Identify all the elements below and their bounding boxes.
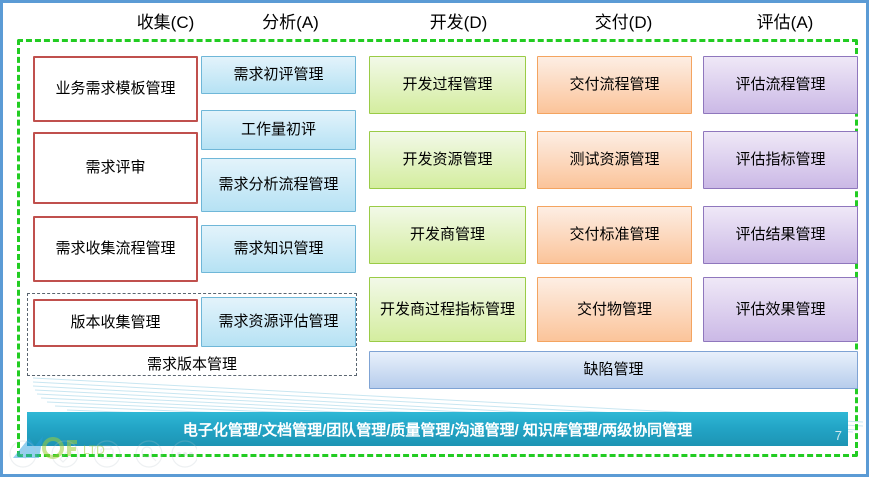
card-label: 评估结果管理 <box>735 226 825 244</box>
card-label: 需求资源评估管理 <box>218 313 338 331</box>
card-label: 评估效果管理 <box>735 301 825 319</box>
card-develop-1[interactable]: 开发过程管理 <box>369 56 526 114</box>
card-label: 版本收集管理 <box>70 314 160 332</box>
card-evaluate-3[interactable]: 评估结果管理 <box>703 206 858 264</box>
card-analyze-5[interactable]: 需求资源评估管理 <box>201 297 356 347</box>
card-label: 需求评审 <box>85 159 145 177</box>
card-label: 需求分析流程管理 <box>218 176 338 194</box>
card-deliver-1[interactable]: 交付流程管理 <box>537 56 692 114</box>
card-evaluate-4[interactable]: 评估效果管理 <box>703 277 858 342</box>
card-develop-3[interactable]: 开发商管理 <box>369 206 526 264</box>
card-develop-4[interactable]: 开发商过程指标管理 <box>369 277 526 342</box>
column-header-develop: 开发(D) <box>371 9 546 37</box>
card-deliver-2[interactable]: 测试资源管理 <box>537 131 692 189</box>
foundation-services-bar: 电子化管理/文档管理/团队管理/质量管理/沟通管理/ 知识库管理/两级协同管理 <box>27 412 848 446</box>
page-number: 7 <box>835 428 842 443</box>
card-label: 缺陷管理 <box>583 361 643 379</box>
card-label: 开发商过程指标管理 <box>380 301 515 319</box>
card-defect-management[interactable]: 缺陷管理 <box>369 351 858 389</box>
column-headers: 收集(C) 分析(A) 开发(D) 交付(D) 评估(A) <box>3 9 869 39</box>
card-analyze-4[interactable]: 需求知识管理 <box>201 225 356 273</box>
card-analyze-1[interactable]: 需求初评管理 <box>201 56 356 94</box>
card-label: 交付标准管理 <box>569 226 659 244</box>
version-management-caption: 需求版本管理 <box>27 353 357 374</box>
card-collect-2[interactable]: 需求评审 <box>33 132 198 204</box>
card-label: 需求初评管理 <box>233 66 323 84</box>
card-label: 业务需求模板管理 <box>55 80 175 98</box>
card-collect-1[interactable]: 业务需求模板管理 <box>33 56 198 122</box>
card-label: 交付物管理 <box>577 301 652 319</box>
card-deliver-3[interactable]: 交付标准管理 <box>537 206 692 264</box>
card-collect-3[interactable]: 需求收集流程管理 <box>33 216 198 282</box>
column-header-evaluate: 评估(A) <box>700 9 869 37</box>
card-label: 开发资源管理 <box>402 151 492 169</box>
card-analyze-2[interactable]: 工作量初评 <box>201 110 356 150</box>
slide-canvas: 收集(C) 分析(A) 开发(D) 交付(D) 评估(A) 业务需求模板管理 需… <box>0 0 869 477</box>
card-deliver-4[interactable]: 交付物管理 <box>537 277 692 342</box>
card-label: 工作量初评 <box>241 121 316 139</box>
card-collect-4[interactable]: 版本收集管理 <box>33 299 198 347</box>
card-label: 评估指标管理 <box>735 151 825 169</box>
column-header-deliver: 交付(D) <box>536 9 711 37</box>
card-label: 评估流程管理 <box>735 76 825 94</box>
card-label: 需求知识管理 <box>233 240 323 258</box>
card-label: 测试资源管理 <box>569 151 659 169</box>
card-analyze-3[interactable]: 需求分析流程管理 <box>201 158 356 212</box>
card-label: 开发商管理 <box>410 226 485 244</box>
card-evaluate-2[interactable]: 评估指标管理 <box>703 131 858 189</box>
card-label: 开发过程管理 <box>402 76 492 94</box>
card-develop-2[interactable]: 开发资源管理 <box>369 131 526 189</box>
card-label: 需求收集流程管理 <box>55 240 175 258</box>
card-label: 交付流程管理 <box>569 76 659 94</box>
card-evaluate-1[interactable]: 评估流程管理 <box>703 56 858 114</box>
foundation-services-label: 电子化管理/文档管理/团队管理/质量管理/沟通管理/ 知识库管理/两级协同管理 <box>183 419 692 440</box>
column-header-analyze: 分析(A) <box>203 9 378 37</box>
